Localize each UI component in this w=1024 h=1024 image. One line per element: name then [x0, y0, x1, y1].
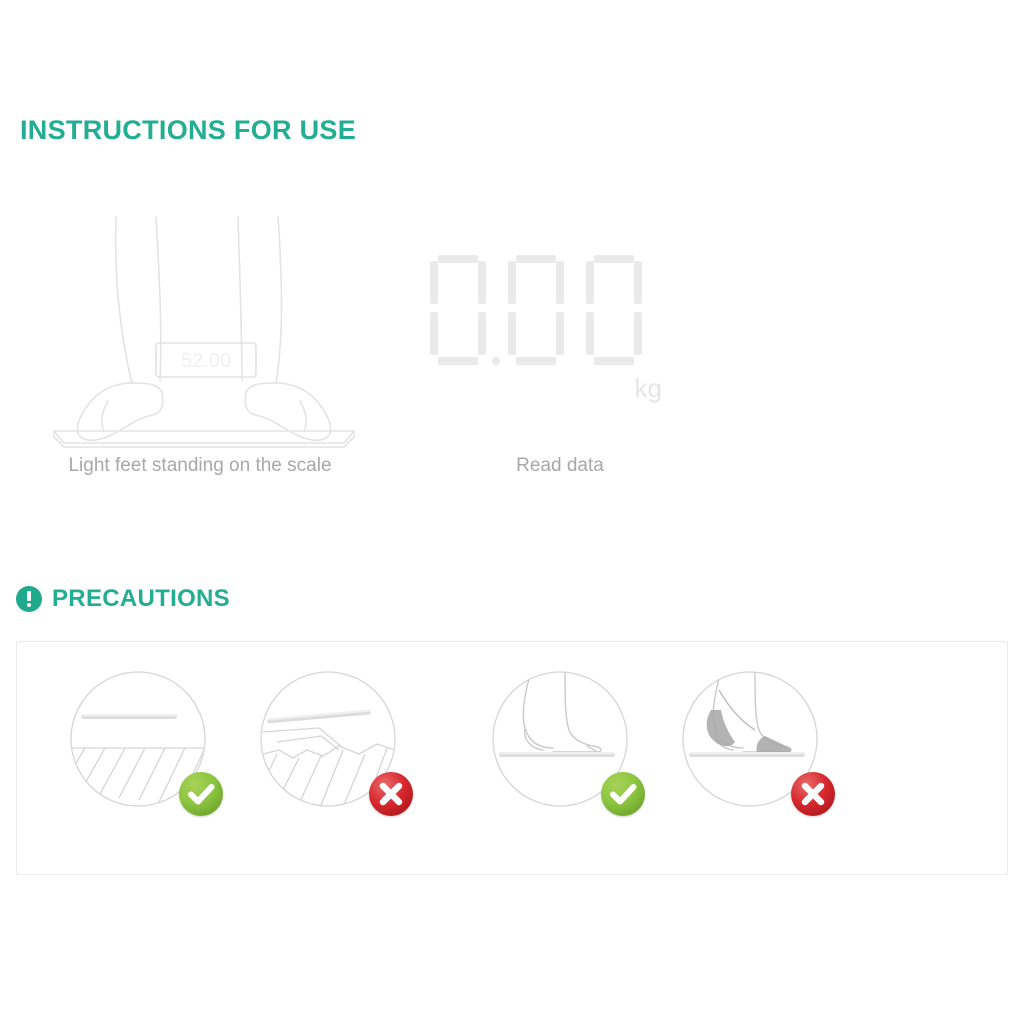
- step-2-caption: Read data: [370, 455, 750, 477]
- scale-display-value: 52.00: [181, 350, 231, 372]
- precaution-item-1: [69, 670, 219, 820]
- lcd-unit-label: kg: [635, 373, 662, 404]
- instructions-for-use-title: INSTRUCTIONS FOR USE: [20, 115, 356, 146]
- cross-badge: [369, 772, 413, 816]
- check-badge: [601, 772, 645, 816]
- feet-on-scale-illustration: 52.00: [10, 215, 390, 450]
- lcd-digit-1: [430, 255, 486, 365]
- exclamation-circle-icon: [16, 586, 42, 612]
- check-badge: [179, 772, 223, 816]
- lcd-display: kg: [430, 255, 680, 405]
- instruction-steps-row: 52.00 Light feet standing on the scale: [0, 215, 1024, 505]
- precautions-header: PRECAUTIONS: [16, 585, 230, 613]
- cross-badge: [791, 772, 835, 816]
- precautions-panel: [16, 641, 1008, 875]
- precaution-item-3: [491, 670, 641, 820]
- precaution-item-4: [681, 670, 831, 820]
- instruction-step-1: 52.00 Light feet standing on the scale: [10, 215, 390, 505]
- precautions-title: PRECAUTIONS: [52, 585, 230, 613]
- precaution-item-2: [259, 670, 409, 820]
- lcd-decimal-point: [492, 357, 500, 365]
- instruction-step-2: kg Read data: [370, 215, 750, 505]
- lcd-digit-2: [508, 255, 564, 365]
- lcd-digit-3: [586, 255, 642, 365]
- digital-readout-illustration: kg: [370, 215, 750, 450]
- step-1-caption: Light feet standing on the scale: [10, 455, 390, 477]
